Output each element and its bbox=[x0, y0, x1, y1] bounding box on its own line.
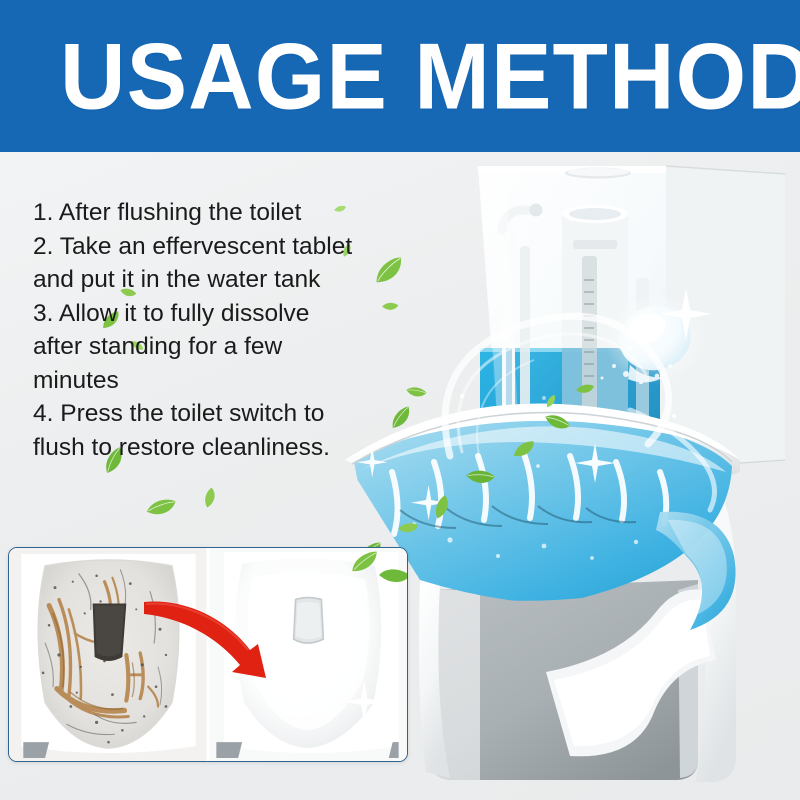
leaf-icon bbox=[197, 485, 222, 511]
instruction-line: 3. Allow it to fully dissolve bbox=[33, 297, 393, 331]
instruction-line: flush to restore cleanliness. bbox=[33, 431, 393, 465]
product-usage-infographic: USAGE METHOD bbox=[0, 0, 800, 800]
instruction-line: and put it in the water tank bbox=[33, 263, 393, 297]
page-title: USAGE METHOD bbox=[60, 22, 800, 131]
instruction-line: after standing for a few bbox=[33, 330, 393, 364]
header-banner: USAGE METHOD bbox=[0, 0, 800, 152]
instruction-line: 1. After flushing the toilet bbox=[33, 196, 393, 230]
transformation-arrow-icon bbox=[140, 592, 300, 687]
instruction-line: 4. Press the toilet switch to bbox=[33, 397, 393, 431]
bowl-water bbox=[354, 416, 732, 601]
instruction-line: minutes bbox=[33, 364, 393, 398]
instruction-list: 1. After flushing the toilet 2. Take an … bbox=[33, 196, 393, 464]
leaf-icon bbox=[145, 494, 178, 521]
instruction-line: 2. Take an effervescent tablet bbox=[33, 230, 393, 264]
